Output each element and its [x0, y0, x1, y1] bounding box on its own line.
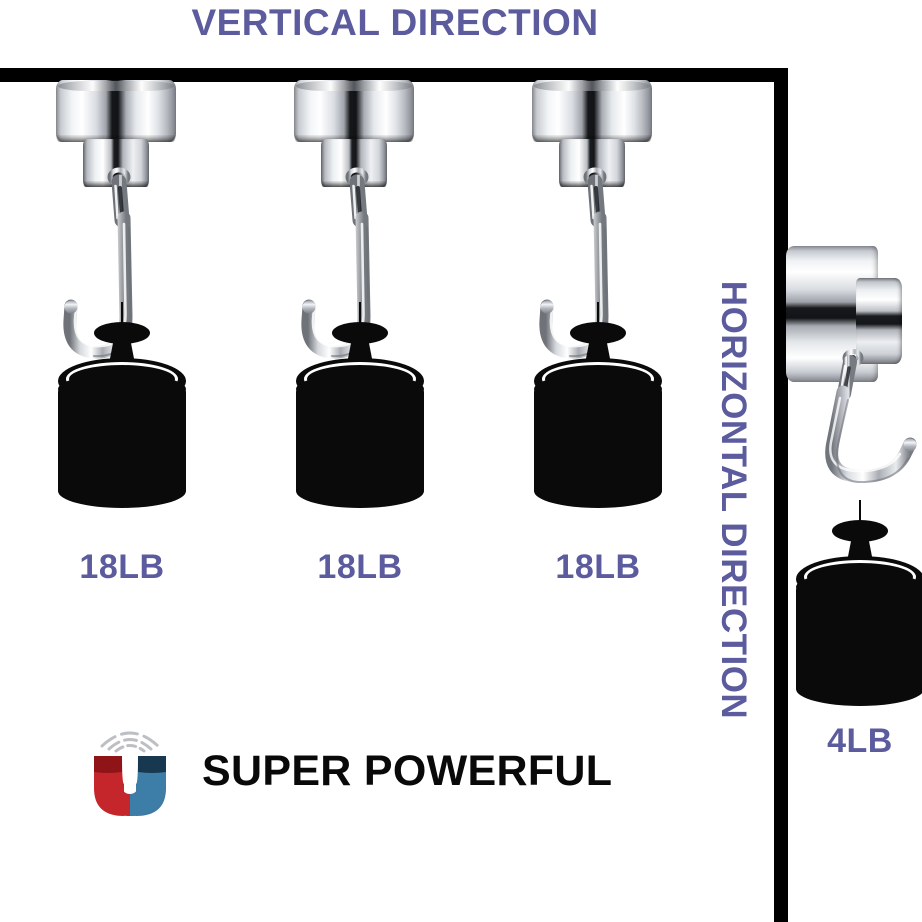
weight-base [796, 672, 922, 706]
magnet-disc-icon [56, 80, 176, 142]
weight-label-3: 18LB [518, 548, 678, 587]
horizontal-hook-icon [800, 350, 922, 510]
weight-wire [859, 500, 861, 522]
magnet-hook-assembly-1 [56, 80, 188, 300]
magnet-hook-assembly-3 [532, 80, 664, 300]
weight-base [534, 474, 662, 508]
weight-icon-1 [52, 302, 192, 512]
weight-icon-4 [790, 500, 922, 710]
magnet-disc-icon [532, 80, 652, 142]
magnet-hook-assembly-2 [294, 80, 426, 300]
weight-base [296, 474, 424, 508]
weight-base [58, 474, 186, 508]
weight-icon-3 [528, 302, 668, 512]
page-title-horizontal-direction: HORIZONTAL DIRECTION [713, 281, 753, 719]
weight-wire [597, 302, 599, 324]
horseshoe-magnet-logo [84, 722, 176, 820]
weight-label-4: 4LB [790, 722, 922, 761]
horizontal-title-container: HORIZONTAL DIRECTION [700, 240, 766, 760]
page-title-vertical-direction: VERTICAL DIRECTION [0, 0, 790, 46]
magnet-disc-icon [294, 80, 414, 142]
weight-label-2: 18LB [280, 548, 440, 587]
weight-label-1: 18LB [42, 548, 202, 587]
infographic-canvas: VERTICAL DIRECTION HORIZONTAL DIRECTION [0, 0, 922, 922]
brand-row: SUPER POWERFUL [84, 722, 612, 820]
weight-icon-2 [290, 302, 430, 512]
brand-tagline: SUPER POWERFUL [202, 747, 612, 796]
weight-wire [121, 302, 123, 324]
mounting-surface-vertical-bar [774, 68, 788, 922]
weight-wire [359, 302, 361, 324]
